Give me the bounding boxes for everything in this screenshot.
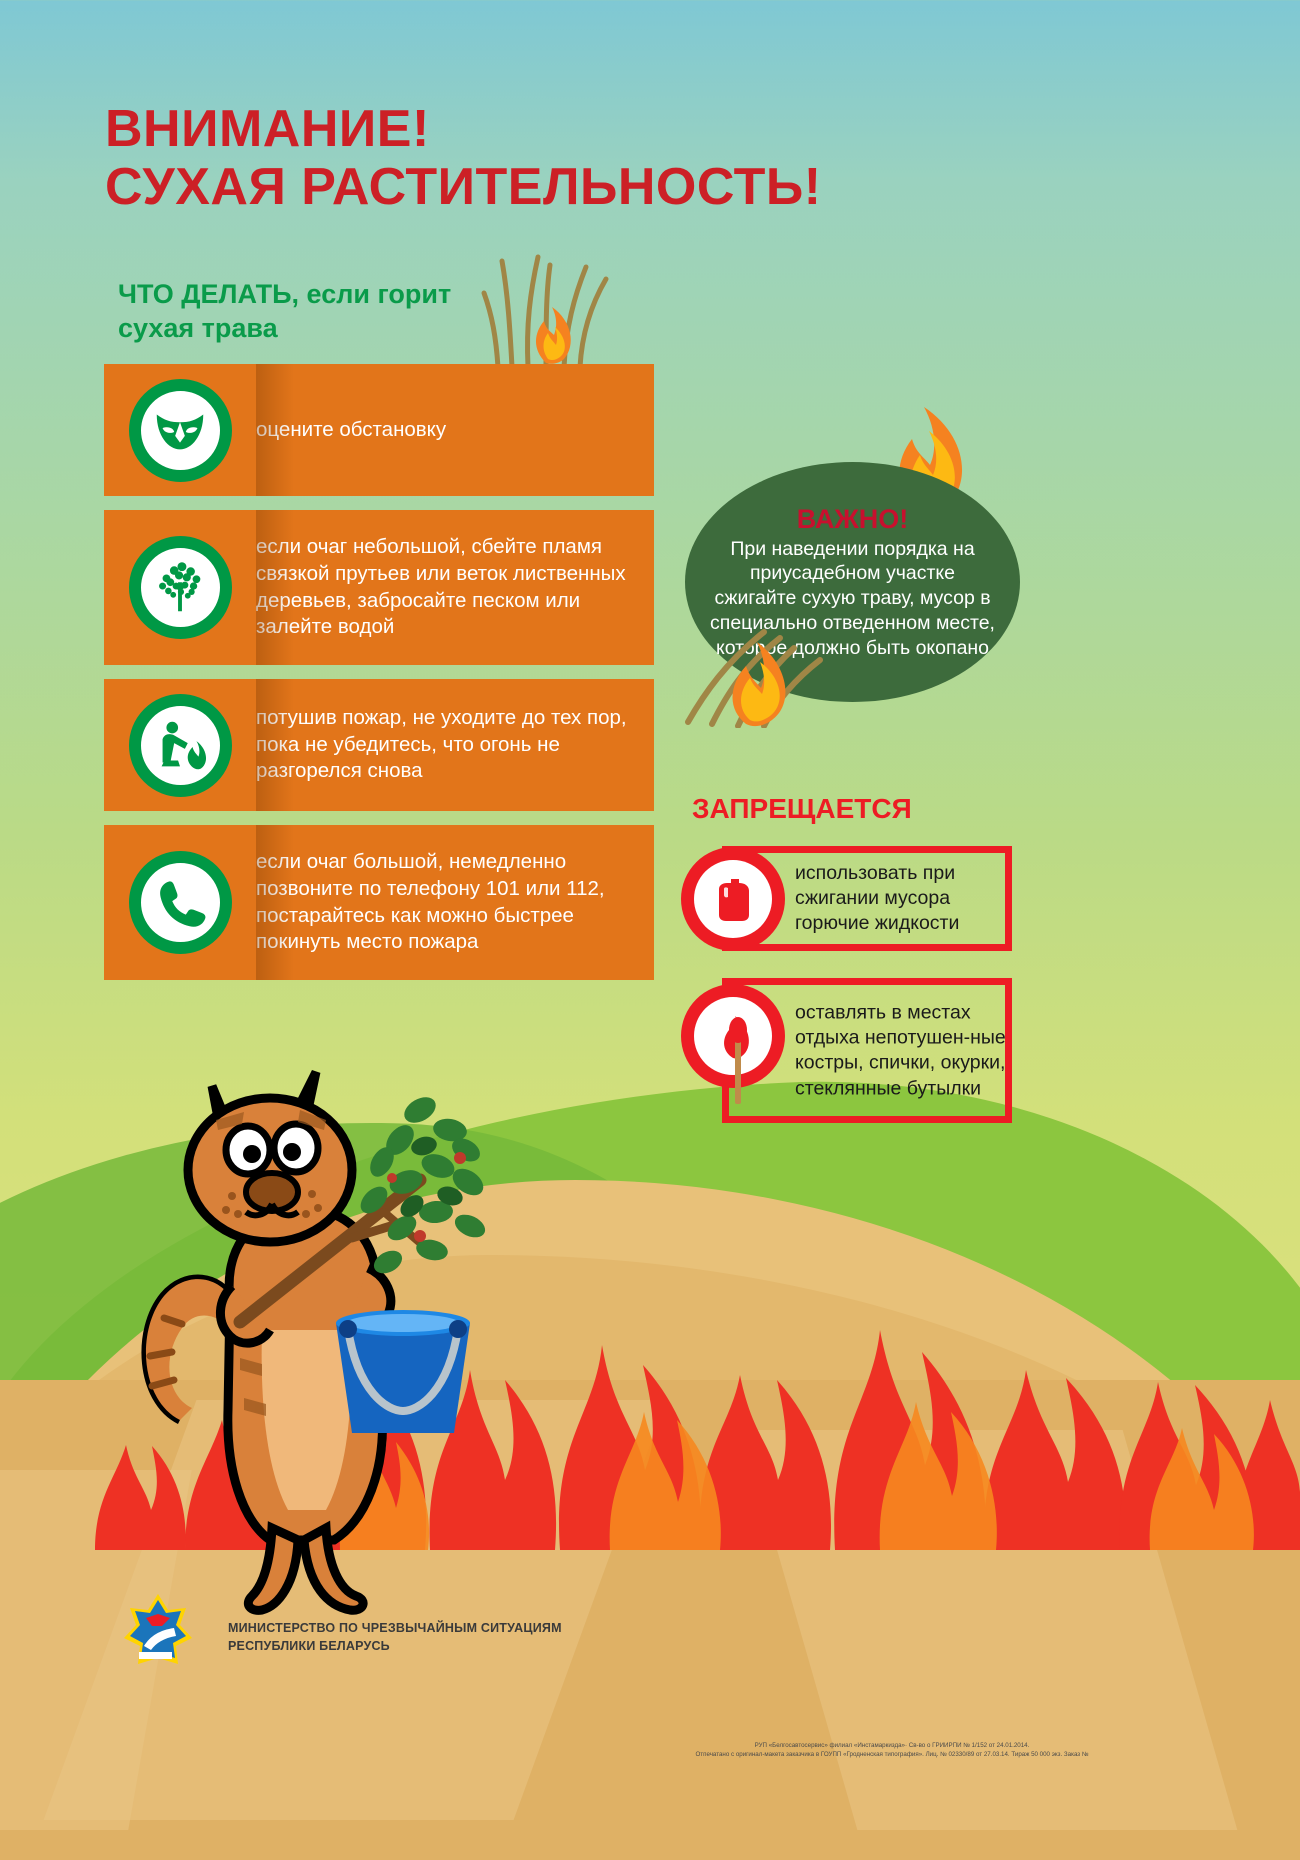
poster-title: ВНИМАНИЕ! СУХАЯ РАСТИТЕЛЬНОСТЬ! [105, 100, 822, 216]
match-stick-icon [718, 1016, 758, 1106]
title-line-2: СУХАЯ РАСТИТЕЛЬНОСТЬ! [105, 158, 822, 216]
instruction-row[interactable]: оцените обстановку [104, 364, 654, 496]
important-heading: ВАЖНО! [797, 504, 909, 535]
subhead-line-2: сухая трава [118, 313, 278, 343]
telephone-icon [129, 851, 232, 954]
imprint-line-2: Отпечатано с оригинал-макета заказчика в… [612, 1751, 1172, 1760]
prohibited-item-text: использовать при сжигании мусора горючие… [795, 860, 1015, 936]
instruction-badge [104, 851, 256, 954]
burning-grass-bottom-icon [668, 618, 858, 728]
ministry-line-1: МИНИСТЕРСТВО ПО ЧРЕЗВЫЧАЙНЫМ СИТУАЦИЯМ [228, 1621, 562, 1635]
tree-branch-icon [129, 536, 232, 639]
mask-icon [129, 379, 232, 482]
instruction-badge [104, 379, 256, 482]
instruction-text: если очаг большой, немедленно позвоните … [256, 849, 654, 956]
instruction-row[interactable]: потушив пожар, не уходите до тех пор, по… [104, 679, 654, 811]
extinguish-person-icon [129, 694, 232, 797]
title-line-1: ВНИМАНИЕ! [105, 100, 430, 158]
instruction-badge [104, 536, 256, 639]
fuel-canister-icon [681, 847, 785, 951]
mchs-emblem-icon [122, 1592, 194, 1672]
instruction-text: оцените обстановку [256, 417, 460, 444]
what-to-do-heading: ЧТО ДЕЛАТЬ, если горит сухая трава [118, 278, 548, 346]
ministry-line-2: РЕСПУБЛИКИ БЕЛАРУСЬ [228, 1639, 390, 1653]
subhead-line-1: ЧТО ДЕЛАТЬ, если горит [118, 279, 451, 309]
instruction-text: если очаг небольшой, сбейте пламя связко… [256, 534, 654, 641]
imprint-text: РУП «Белгосавтосервис» филиал «Инстамарк… [612, 1742, 1172, 1760]
instruction-badge [104, 694, 256, 797]
ministry-name: МИНИСТЕРСТВО ПО ЧРЕЗВЫЧАЙНЫМ СИТУАЦИЯМ Р… [228, 1620, 562, 1655]
instruction-text: потушив пожар, не уходите до тех пор, по… [256, 705, 654, 785]
instruction-row[interactable]: если очаг небольшой, сбейте пламя связко… [104, 510, 654, 665]
instruction-list: оцените обстановку если очаг небол [104, 364, 654, 994]
prohibited-item-text: оставлять в местах отдыха непотушен-ные … [795, 1000, 1015, 1101]
prohibited-heading: ЗАПРЕЩАЕТСЯ [692, 793, 912, 825]
imprint-line-1: РУП «Белгосавтосервис» филиал «Инстамарк… [612, 1742, 1172, 1751]
water-bucket-icon [318, 1283, 488, 1443]
instruction-row[interactable]: если очаг большой, немедленно позвоните … [104, 825, 654, 980]
